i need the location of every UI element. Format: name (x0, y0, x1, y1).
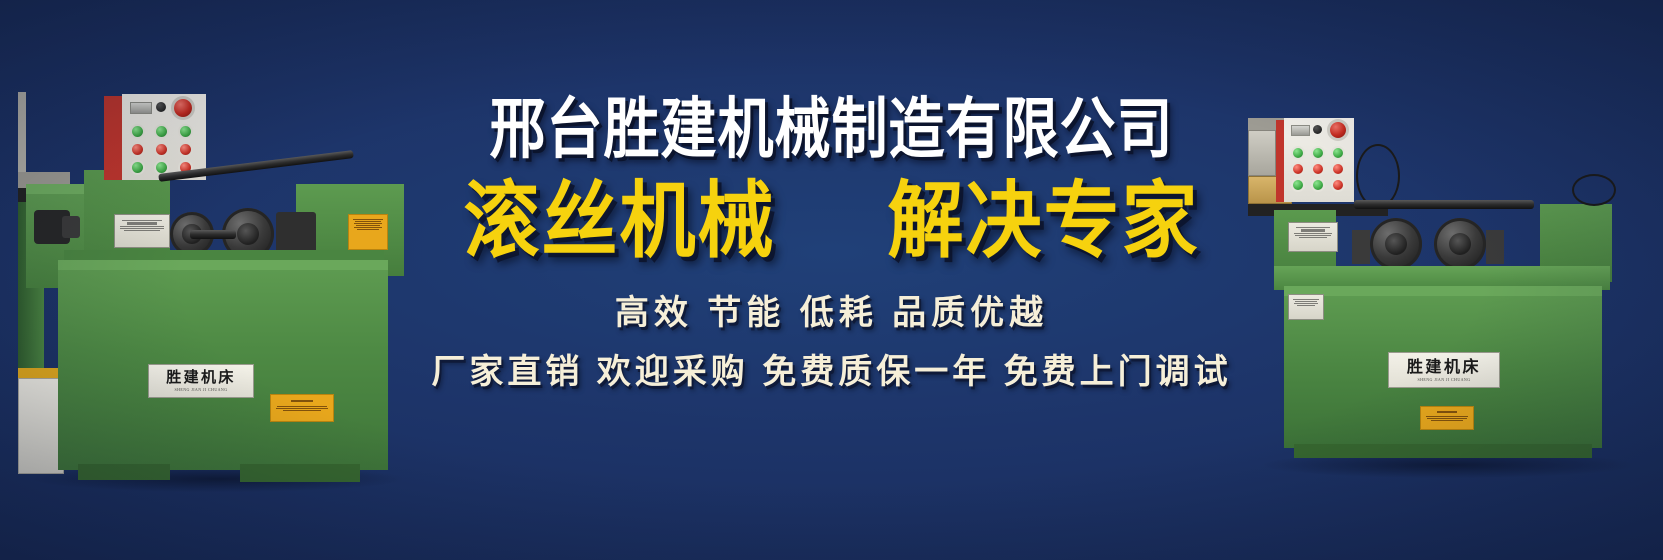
promotional-banner: 胜建机床 SHENG JIAN JI CHUANG (0, 0, 1663, 560)
background-vignette (0, 0, 1663, 560)
